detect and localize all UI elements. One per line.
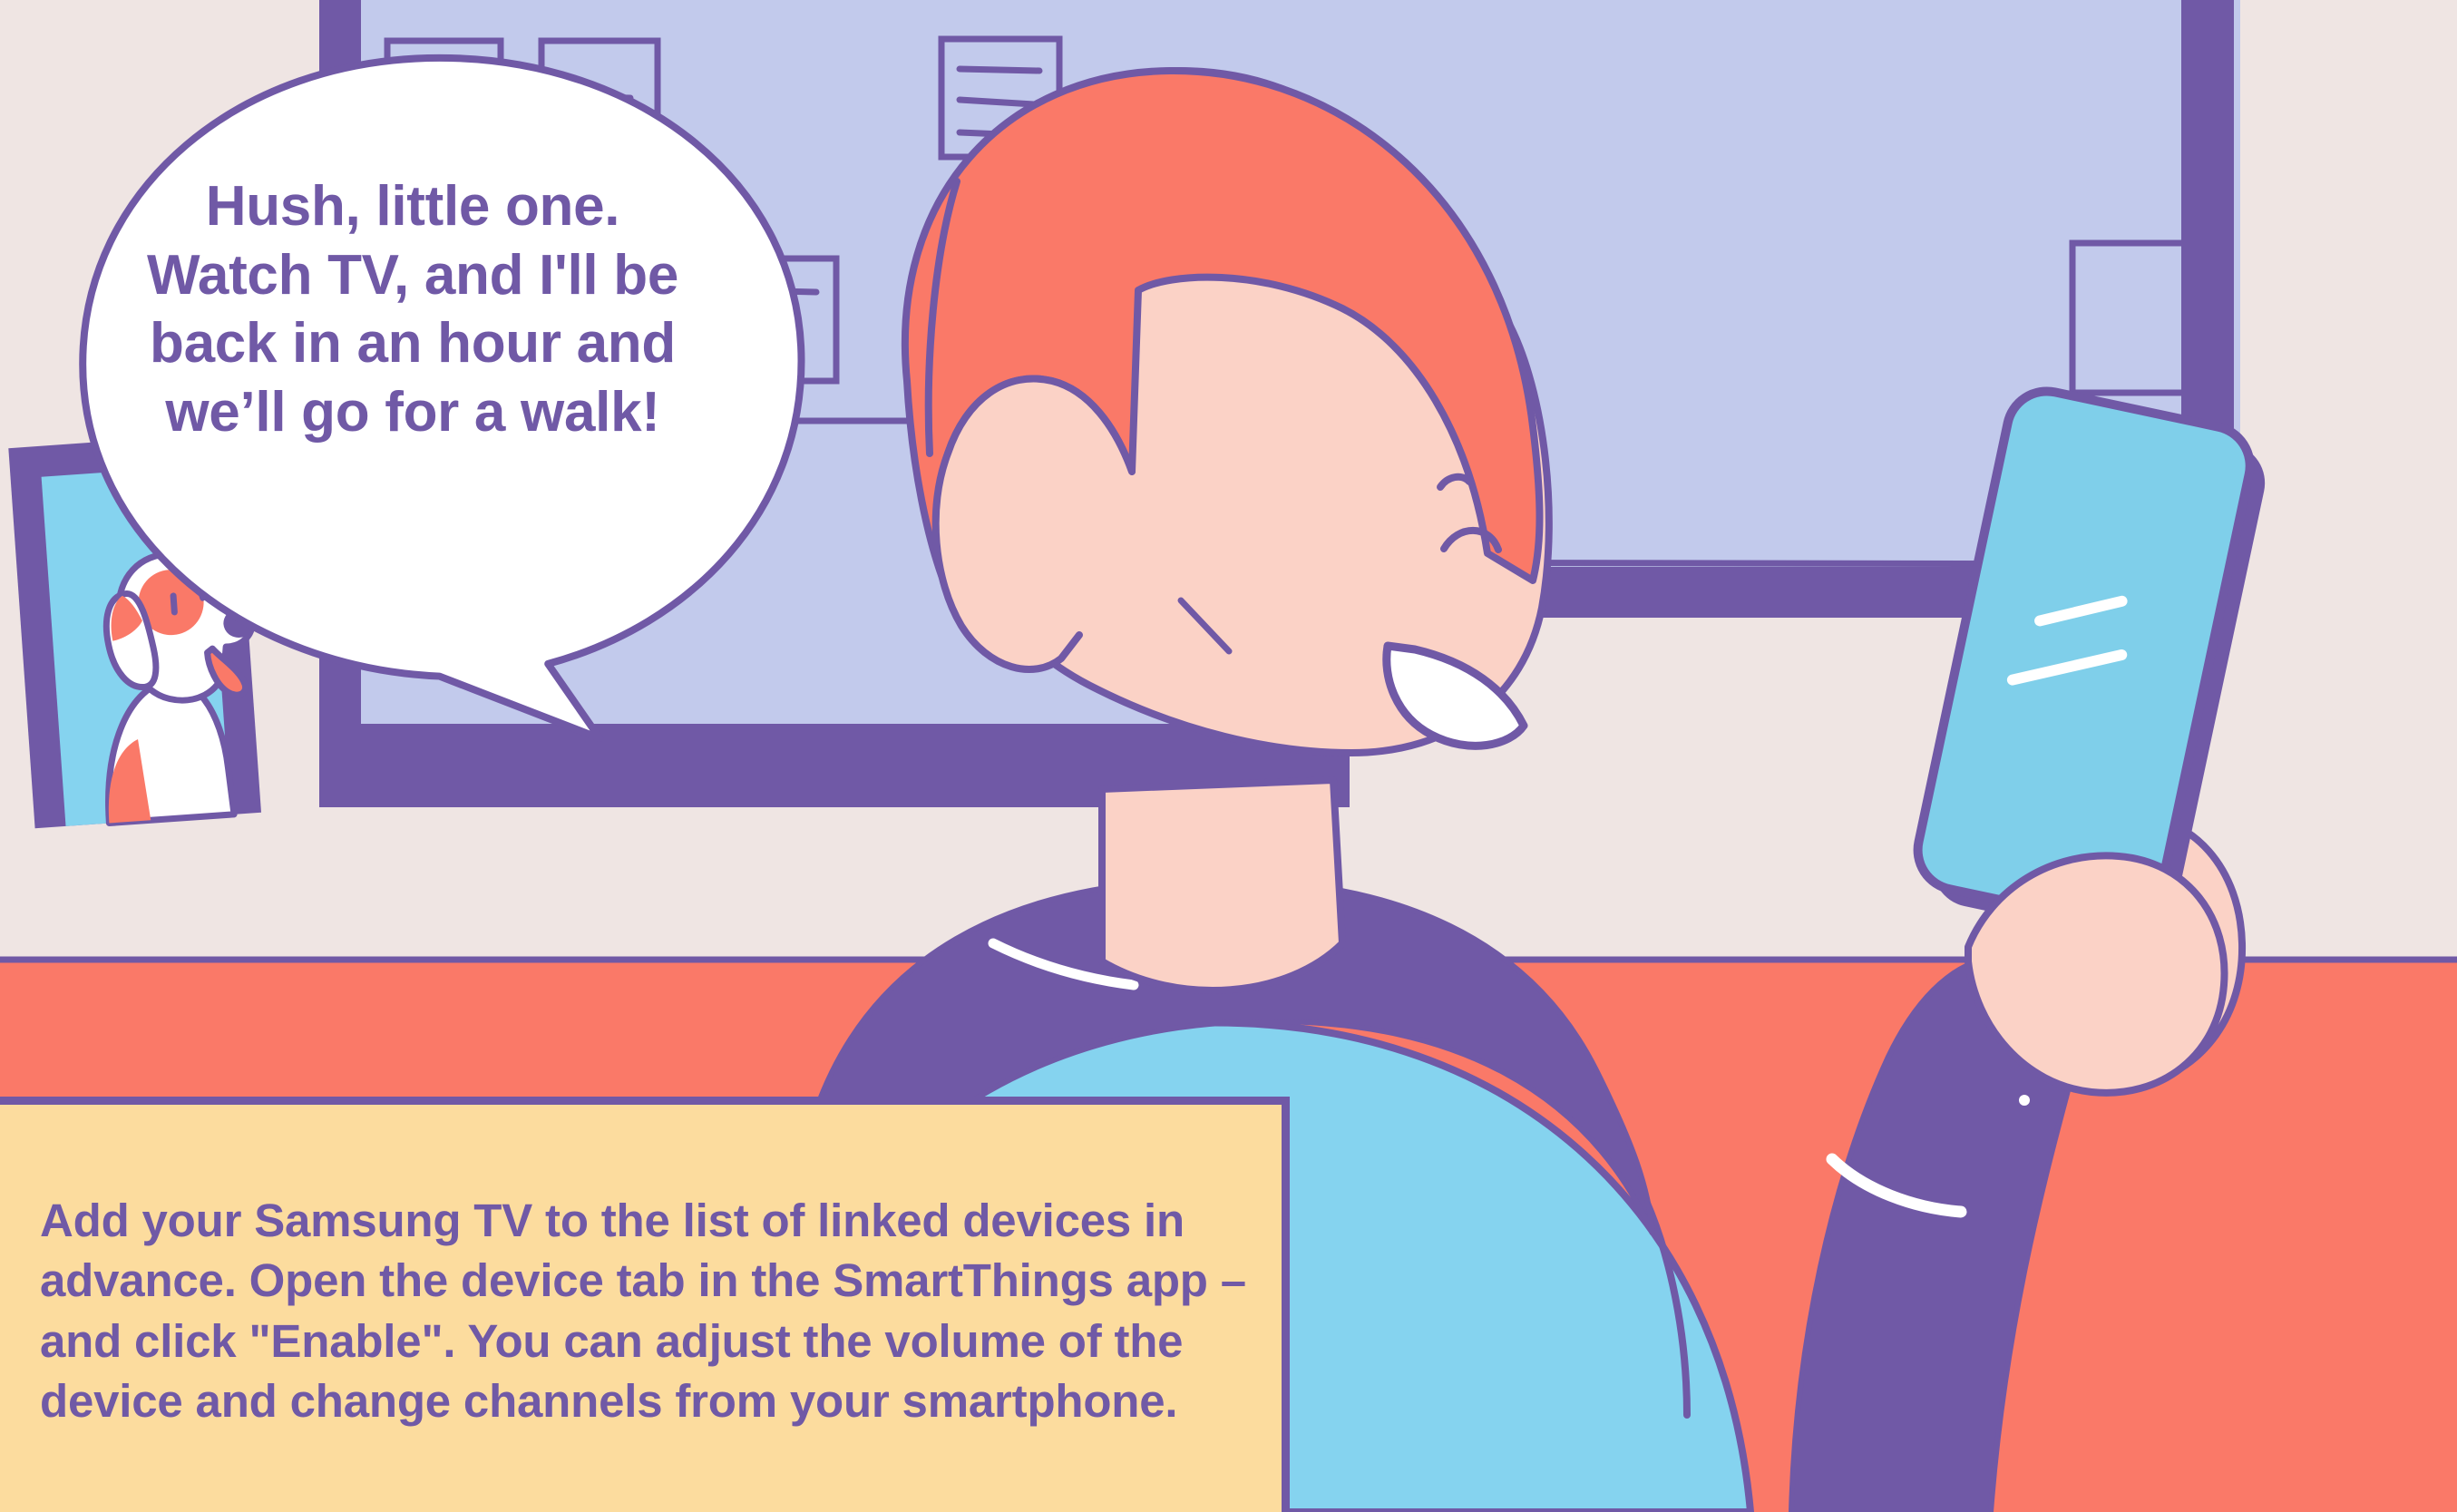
illustration-scene: Hush, little one. Watch TV, and I'll be … bbox=[0, 0, 2457, 1512]
speech-bubble-shape bbox=[83, 58, 801, 738]
instruction-caption-text: Add your Samsung TV to the list of linke… bbox=[40, 1191, 1246, 1431]
instruction-caption-box: Add your Samsung TV to the list of linke… bbox=[0, 1097, 1290, 1512]
